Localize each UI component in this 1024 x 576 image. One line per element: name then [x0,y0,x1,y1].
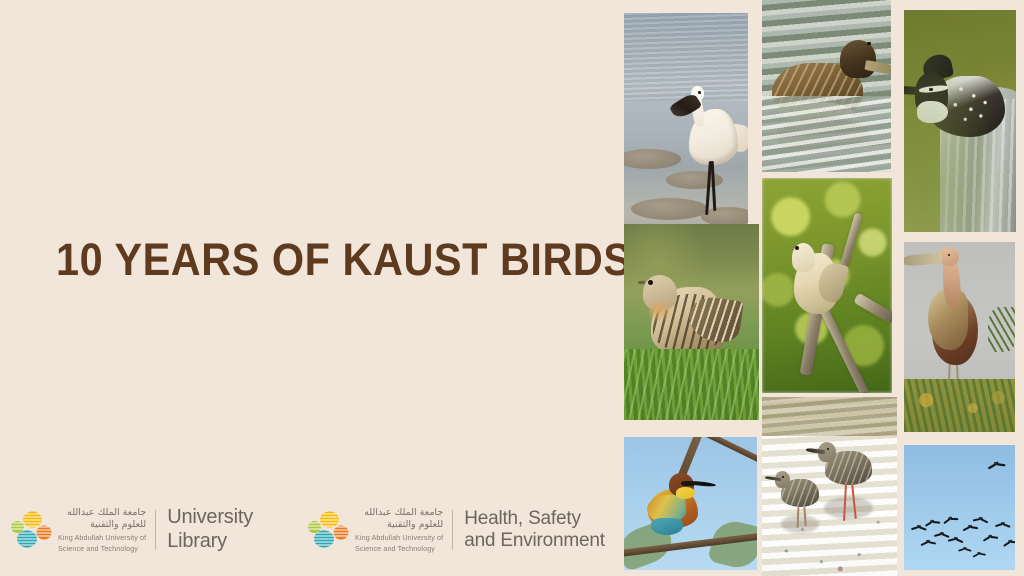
redshank-figure [821,447,878,490]
presentation-slide: 10 YEARS OF KAUST BIRDS [0,0,1024,576]
bird-photo-flock [904,445,1015,570]
unit-line-2: and Environment [464,530,605,552]
kaust-english-line-2: Science and Technology [58,544,146,553]
bird-photo-spoonbill [624,13,748,233]
kaust-english-line-1: King Abdullah University of [58,533,146,542]
logo-unit-name: Health, Safety and Environment [464,508,605,553]
kaust-arabic-line-2: للعلوم والتقنية [355,519,443,531]
kaust-wordmark: جامعة الملك عبدالله للعلوم والتقنية King… [355,507,443,553]
kaust-english-line-1: King Abdullah University of [355,533,443,542]
kaust-wordmark: جامعة الملك عبدالله للعلوم والتقنية King… [58,507,146,553]
photo-background [624,224,759,420]
bird-photo-warbler [762,178,892,393]
photo-background [904,242,1015,432]
bird-photo-duck [762,0,891,172]
unit-line-2: Library [167,530,253,554]
kaust-logo-mark-icon [8,507,54,553]
kaust-logo-mark-icon [305,507,351,553]
bird-photo-bee-eater [624,437,757,570]
logo-divider [452,510,453,550]
spoonbill-figure [686,88,743,185]
photo-background [762,0,891,172]
logo-divider [155,510,156,550]
kaust-university-library-logo: جامعة الملك عبدالله للعلوم والتقنية King… [8,502,253,558]
bird-photo-heron [904,242,1015,432]
photo-background [904,10,1016,232]
kingfisher-figure [906,72,1011,143]
title-block: 10 YEARS OF KAUST BIRDS [56,236,596,283]
duck-figure [772,52,878,124]
page-title: 10 YEARS OF KAUST BIRDS [56,236,553,283]
logo-unit-name: University Library [167,506,253,553]
kaust-health-safety-environment-logo: جامعة الملك عبدالله للعلوم والتقنية King… [305,502,605,558]
photo-background [904,445,1015,570]
photo-background [624,13,748,233]
kaust-arabic-line-1: جامعة الملك عبدالله [58,507,146,519]
photo-background [762,397,897,576]
warbler-figure [791,243,848,320]
bird-photo-redshanks [762,397,897,576]
photo-background [624,437,757,570]
kaust-arabic-line-2: للعلوم والتقنية [58,519,146,531]
kaust-arabic-line-1: جامعة الملك عبدالله [355,507,443,519]
logo-bar: جامعة الملك عبدالله للعلوم والتقنية King… [0,500,620,562]
unit-line-1: Health, Safety [464,508,605,530]
bird-photo-kingfisher [904,10,1016,232]
unit-line-1: University [167,506,253,530]
kaust-english-line-2: Science and Technology [355,544,443,553]
bee-eater-figure [645,474,714,533]
bird-photo-pipit [624,224,759,420]
bird-photo-grid [615,0,1024,576]
redshank-figure [778,476,824,512]
